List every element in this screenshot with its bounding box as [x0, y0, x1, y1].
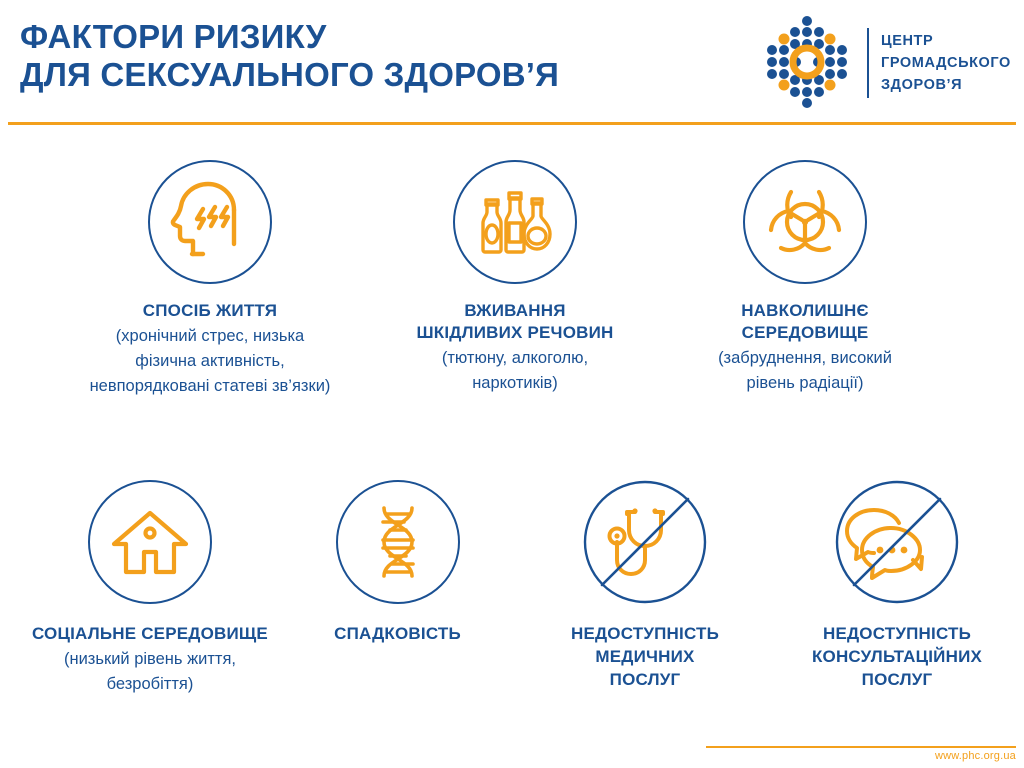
factor-title: СПОСІБ ЖИТТЯ	[20, 300, 400, 322]
factor-card-counselling: НЕДОСТУПНІСТЬ КОНСУЛЬТАЦІЙНИХ ПОСЛУГ	[770, 480, 1024, 693]
factor-title: ВЖИВАННЯ ШКІДЛИВИХ РЕЧОВИН	[390, 300, 640, 344]
factor-card-substances: ВЖИВАННЯ ШКІДЛИВИХ РЕЧОВИН (тютюну, алко…	[390, 160, 640, 396]
factor-card-social: СОЦІАЛЬНЕ СЕРЕДОВИЩЕ (низький рівень жит…	[0, 480, 300, 697]
header-divider-rule	[8, 122, 1016, 125]
page-title-line-2: ДЛЯ СЕКСУАЛЬНОГО ЗДОРОВ’Я	[20, 56, 720, 94]
factor-description: (хронічний стрес, низька фізична активні…	[20, 324, 400, 399]
page-title-line-1: ФАКТОРИ РИЗИКУ	[20, 18, 720, 56]
footer-website-url[interactable]: www.phc.org.ua	[706, 750, 1016, 762]
factor-title: СОЦІАЛЬНЕ СЕРЕДОВИЩЕ	[0, 622, 300, 645]
dna-icon	[336, 480, 460, 604]
factors-row-2: СОЦІАЛЬНЕ СЕРЕДОВИЩЕ (низький рівень жит…	[0, 480, 1024, 740]
logo-dots-icon	[755, 14, 859, 110]
factor-description: (забруднення, високий рівень радіації)	[665, 346, 945, 396]
alcohol-bottles-icon	[453, 160, 577, 284]
factor-card-environment: НАВКОЛИШНЄ СЕРЕДОВИЩЕ (забруднення, висо…	[665, 160, 945, 396]
page-title: ФАКТОРИ РИЗИКУ ДЛЯ СЕКСУАЛЬНОГО ЗДОРОВ’Я	[20, 18, 720, 94]
no-stethoscope-icon	[583, 480, 707, 604]
factor-description: (низький рівень життя, безробіття)	[0, 647, 300, 697]
logo-wordmark-line-2: ГРОМАДСЬКОГО	[881, 52, 1011, 74]
factor-title: НАВКОЛИШНЄ СЕРЕДОВИЩЕ	[665, 300, 945, 344]
house-icon	[88, 480, 212, 604]
factor-description: (тютюну, алкоголю, наркотиків)	[390, 346, 640, 396]
logo-wordmark-line-3: ЗДОРОВ’Я	[881, 74, 1011, 96]
factors-row-1: СПОСІБ ЖИТТЯ (хронічний стрес, низька фі…	[0, 160, 1024, 445]
factor-card-medical: НЕДОСТУПНІСТЬ МЕДИЧНИХ ПОСЛУГ	[535, 480, 755, 693]
footer-divider-rule	[706, 746, 1016, 748]
head-stress-icon	[148, 160, 272, 284]
factor-title: НЕДОСТУПНІСТЬ КОНСУЛЬТАЦІЙНИХ ПОСЛУГ	[770, 622, 1024, 691]
logo-wordmark: ЦЕНТР ГРОМАДСЬКОГО ЗДОРОВ’Я	[881, 30, 1011, 96]
page-header: ФАКТОРИ РИЗИКУ ДЛЯ СЕКСУАЛЬНОГО ЗДОРОВ’Я	[0, 0, 1024, 124]
factor-title: СПАДКОВІСТЬ	[295, 622, 500, 645]
logo-divider	[867, 28, 869, 98]
no-speech-bubbles-icon	[835, 480, 959, 604]
biohazard-icon	[743, 160, 867, 284]
factor-title: НЕДОСТУПНІСТЬ МЕДИЧНИХ ПОСЛУГ	[535, 622, 755, 691]
logo-wordmark-line-1: ЦЕНТР	[881, 30, 1011, 52]
factor-card-lifestyle: СПОСІБ ЖИТТЯ (хронічний стрес, низька фі…	[20, 160, 400, 399]
organization-logo: ЦЕНТР ГРОМАДСЬКОГО ЗДОРОВ’Я	[755, 14, 1007, 110]
factor-card-heredity: СПАДКОВІСТЬ	[295, 480, 500, 647]
